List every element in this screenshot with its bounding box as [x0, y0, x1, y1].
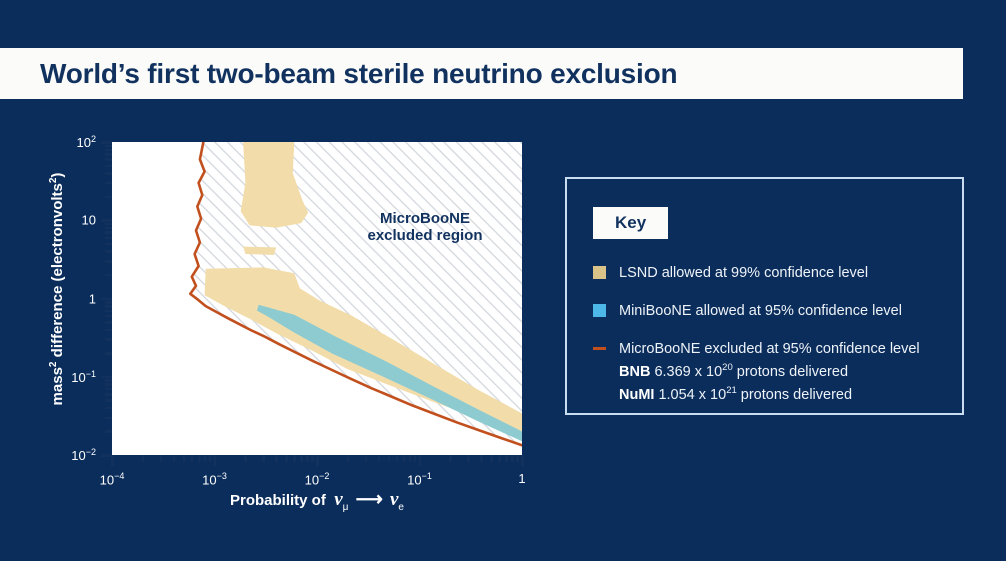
legend-item-label: MiniBooNE allowed at 95% confidence leve…	[619, 301, 902, 321]
legend-items: LSND allowed at 99% confidence levelMini…	[593, 263, 948, 423]
y-tick-label: 10	[0, 213, 96, 228]
x-tick-minor	[347, 455, 350, 462]
legend-item[interactable]: MicroBooNE excluded at 95% confidence le…	[593, 339, 948, 405]
y-tick-minor	[105, 352, 112, 355]
y-tick-minor	[105, 399, 112, 402]
x-tick-minor	[198, 455, 201, 462]
x-tick-minor	[300, 455, 303, 462]
x-tick-minor	[306, 455, 309, 462]
x-tick-major	[419, 455, 422, 466]
x-tick-minor	[183, 455, 186, 462]
y-tick-label: 10−1	[0, 369, 96, 385]
y-tick-minor	[105, 379, 112, 382]
y-tick-minor	[105, 321, 112, 324]
y-tick-label: 10−2	[0, 447, 96, 463]
nu-e-symbol: νe	[390, 489, 404, 510]
legend-sub-line: BNB 6.369 x 1020 protons delivered	[619, 361, 920, 382]
y-tick-minor	[105, 153, 112, 156]
x-tick-minor	[498, 455, 501, 462]
x-tick-minor	[414, 455, 417, 462]
y-tick-minor	[105, 315, 112, 318]
y-tick-minor	[105, 231, 112, 234]
x-tick-minor	[285, 455, 288, 462]
x-tick-minor	[262, 455, 265, 462]
x-tick-label: 10−1	[407, 471, 432, 487]
y-tick-minor	[105, 393, 112, 396]
x-tick-minor	[293, 455, 296, 462]
y-tick-minor	[105, 430, 112, 433]
x-tick-minor	[516, 455, 519, 462]
x-tick-minor	[204, 455, 207, 462]
y-tick-label: 1	[0, 291, 96, 306]
x-tick-label: 10−2	[305, 471, 330, 487]
x-tick-minor	[511, 455, 514, 462]
x-tick-minor	[388, 455, 391, 462]
legend-item[interactable]: LSND allowed at 99% confidence level	[593, 263, 948, 283]
legend-line-swatch-icon	[593, 347, 606, 350]
x-tick-minor	[275, 455, 278, 462]
y-tick-major	[101, 141, 112, 144]
y-tick-minor	[105, 182, 112, 185]
legend-item-text: MicroBooNE excluded at 95% confidence le…	[619, 339, 920, 359]
y-tick-minor	[105, 172, 112, 175]
legend-item-text: LSND allowed at 99% confidence level	[619, 263, 868, 283]
y-tick-minor	[105, 165, 112, 168]
y-axis-label: mass2 difference (electronvolts2)	[48, 124, 66, 454]
x-tick-minor	[403, 455, 406, 462]
x-tick-minor	[244, 455, 247, 462]
y-tick-minor	[105, 383, 112, 386]
y-tick-minor	[105, 417, 112, 420]
y-tick-minor	[105, 407, 112, 410]
y-tick-minor	[105, 305, 112, 308]
x-tick-minor	[449, 455, 452, 462]
y-tick-minor	[105, 329, 112, 332]
y-tick-minor	[105, 149, 112, 152]
y-tick-minor	[105, 274, 112, 277]
x-tick-major	[521, 455, 524, 466]
plot-wrap: MicroBooNE excluded region	[112, 142, 522, 455]
legend-item-label: LSND allowed at 99% confidence level	[619, 263, 868, 283]
x-tick-minor	[490, 455, 493, 462]
legend-item[interactable]: MiniBooNE allowed at 95% confidence leve…	[593, 301, 948, 321]
plot-svg	[112, 142, 522, 455]
y-tick-minor	[105, 250, 112, 253]
y-tick-minor	[105, 243, 112, 246]
x-tick-label: 10−3	[202, 471, 227, 487]
nu-mu-symbol: νμ	[334, 489, 348, 510]
x-tick-minor	[378, 455, 381, 462]
x-tick-major	[214, 455, 217, 466]
x-tick-minor	[409, 455, 412, 462]
x-tick-major	[316, 455, 319, 466]
slide-root: World’s first two-beam sterile neutrino …	[0, 0, 1006, 561]
x-tick-minor	[396, 455, 399, 462]
legend-sub-line: NuMI 1.054 x 1021 protons delivered	[619, 384, 920, 405]
x-tick-minor	[142, 455, 145, 462]
y-tick-minor	[105, 223, 112, 226]
x-tick-major	[111, 455, 114, 466]
x-tick-minor	[160, 455, 163, 462]
x-tick-minor	[209, 455, 212, 462]
legend-color-swatch-icon	[593, 304, 606, 317]
page-title: World’s first two-beam sterile neutrino …	[40, 58, 677, 90]
y-tick-label: 102	[0, 134, 96, 150]
y-tick-minor	[105, 196, 112, 199]
legend-item-text: MiniBooNE allowed at 95% confidence leve…	[619, 301, 902, 321]
y-tick-major	[101, 219, 112, 222]
x-tick-minor	[467, 455, 470, 462]
x-tick-label: 1	[518, 471, 525, 486]
y-tick-minor	[105, 338, 112, 341]
y-tick-minor	[105, 388, 112, 391]
x-tick-minor	[191, 455, 194, 462]
y-tick-minor	[105, 237, 112, 240]
x-tick-minor	[480, 455, 483, 462]
legend-item-label: MicroBooNE excluded at 95% confidence le…	[619, 339, 920, 405]
legend-box: Key LSND allowed at 99% confidence level…	[565, 177, 964, 415]
arrow-icon: ⟶	[353, 489, 386, 510]
x-tick-minor	[505, 455, 508, 462]
legend-color-swatch-icon	[593, 266, 606, 279]
y-tick-minor	[105, 301, 112, 304]
y-tick-major	[101, 298, 112, 301]
x-axis-label: Probability of νμ ⟶ νe	[112, 488, 522, 513]
lsnd-allowed-island	[243, 247, 276, 255]
chart-container: mass2 difference (electronvolts2) 10−210…	[0, 120, 560, 540]
y-tick-minor	[105, 145, 112, 148]
y-tick-major	[101, 376, 112, 379]
y-tick-minor	[105, 260, 112, 263]
y-tick-minor	[105, 310, 112, 313]
x-tick-minor	[311, 455, 314, 462]
legend-title-tab: Key	[593, 207, 668, 239]
y-tick-minor	[105, 158, 112, 161]
title-band: World’s first two-beam sterile neutrino …	[0, 48, 963, 99]
plot-area: MicroBooNE excluded region	[112, 142, 522, 455]
y-tick-minor	[105, 227, 112, 230]
x-tick-minor	[173, 455, 176, 462]
x-tick-minor	[365, 455, 368, 462]
x-tick-label: 10−4	[100, 471, 125, 487]
